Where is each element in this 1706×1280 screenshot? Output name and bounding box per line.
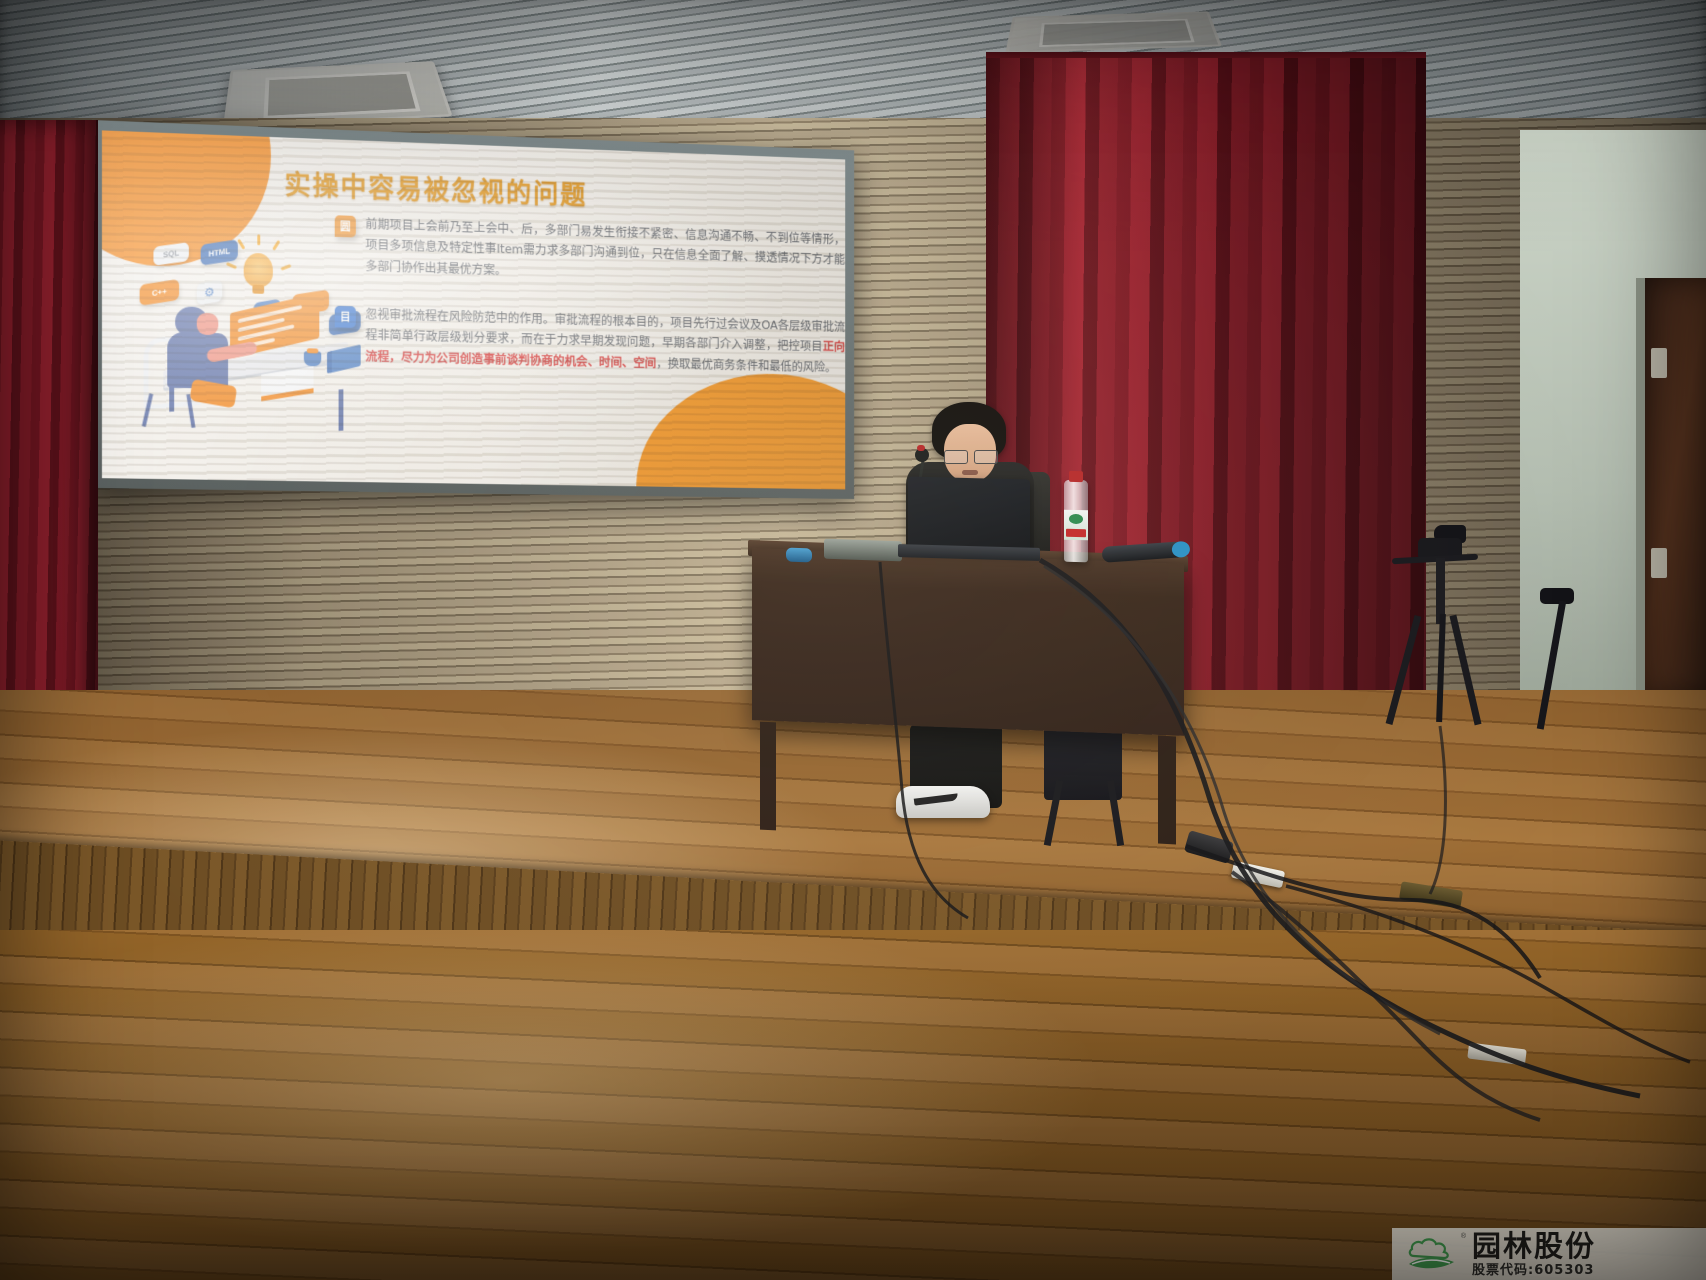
gear-icon: ⚙ bbox=[197, 280, 222, 306]
door-hinge-icon bbox=[1651, 348, 1667, 378]
presenter-desk bbox=[752, 548, 1184, 736]
bullet-2-highlight-2: 时间、空间 bbox=[599, 354, 656, 370]
slide-surface: 实操中容易被忽视的问题 SQL HTML C++ PHP JS CSS ⚙ bbox=[102, 130, 845, 489]
bullet-2-lead: 忽视审批流程在风险防范中的作用。审批流程的根本目的，项目先行过会议及OA各层级审… bbox=[365, 307, 845, 354]
projection-screen: 实操中容易被忽视的问题 SQL HTML C++ PHP JS CSS ⚙ bbox=[92, 120, 854, 499]
bottle-cap bbox=[1069, 471, 1083, 482]
bullet-1-text: 前期项目上会前乃至上会中、后，多部门易发生衔接不紧密、信息沟通不畅、不到位等情形… bbox=[365, 213, 845, 290]
coffee-cup-icon bbox=[304, 351, 321, 366]
laptop-screen[interactable] bbox=[908, 477, 1030, 552]
presenter-mouth bbox=[962, 470, 978, 475]
slide-bullet-1: 圆 前期项目上会前乃至上会中、后，多部门易发生衔接不紧密、信息沟通不畅、不到位等… bbox=[335, 212, 845, 290]
tag-sql: SQL bbox=[153, 242, 188, 266]
microphone-base[interactable] bbox=[824, 539, 902, 562]
bullet-2-text: 忽视审批流程在风险防范中的作用。审批流程的根本目的，项目先行过会议及OA各层级审… bbox=[365, 304, 845, 378]
bulb-ray bbox=[257, 234, 260, 245]
slide-title: 实操中容易被忽视的问题 bbox=[285, 163, 588, 212]
watermark: ® 园林股份 股票代码:605303 bbox=[1392, 1228, 1706, 1280]
water-bottle[interactable] bbox=[1064, 480, 1088, 563]
watermark-text: 园林股份 股票代码:605303 bbox=[1472, 1232, 1596, 1277]
lightbulb-icon bbox=[244, 253, 273, 287]
second-tripod-head bbox=[1540, 588, 1574, 604]
person-face bbox=[197, 313, 219, 335]
ceiling-shading bbox=[0, 0, 1706, 132]
bulb-ray bbox=[226, 262, 237, 269]
small-blue-device[interactable] bbox=[786, 548, 812, 563]
presentation-photo-scene: 实操中容易被忽视的问题 SQL HTML C++ PHP JS CSS ⚙ bbox=[0, 0, 1706, 1280]
glasses-icon bbox=[944, 450, 998, 462]
stage-curtain-left bbox=[0, 120, 98, 726]
bullet-marker-orange: 圆 bbox=[335, 215, 356, 237]
slide-body: 圆 前期项目上会前乃至上会中、后，多部门易发生衔接不紧密、信息沟通不畅、不到位等… bbox=[335, 212, 845, 404]
stock-code: 股票代码:605303 bbox=[1472, 1264, 1596, 1277]
bulb-ray bbox=[237, 239, 245, 250]
desk-leg bbox=[339, 389, 344, 431]
slat-ceiling bbox=[0, 0, 1706, 132]
company-name: 园林股份 bbox=[1472, 1232, 1596, 1261]
bulb-ray bbox=[280, 264, 291, 271]
bullet-2-tail: ，换取最优商务条件和最低的风险。 bbox=[656, 356, 836, 375]
presenter-shoe bbox=[896, 786, 990, 818]
tag-html: HTML bbox=[201, 239, 238, 265]
tag-cpp: C++ bbox=[140, 279, 179, 306]
bulb-ray bbox=[272, 240, 280, 251]
developer-illustration: SQL HTML C++ PHP JS CSS ⚙ {} bbox=[136, 235, 355, 429]
desk-leg-left bbox=[760, 722, 776, 831]
bullet-marker-blue: 目 bbox=[335, 306, 356, 328]
registered-mark: ® bbox=[1461, 1233, 1466, 1240]
door-hinge-icon bbox=[1651, 548, 1667, 578]
desk-leg-right bbox=[1158, 736, 1176, 845]
microphone-head-icon bbox=[915, 448, 929, 462]
door[interactable] bbox=[1636, 278, 1706, 698]
company-logo-icon: ® bbox=[1404, 1234, 1462, 1274]
bottle-label bbox=[1064, 510, 1088, 541]
slide-bullet-2: 目 忽视审批流程在风险防范中的作用。审批流程的根本目的，项目先行过会议及OA各层… bbox=[335, 303, 845, 378]
